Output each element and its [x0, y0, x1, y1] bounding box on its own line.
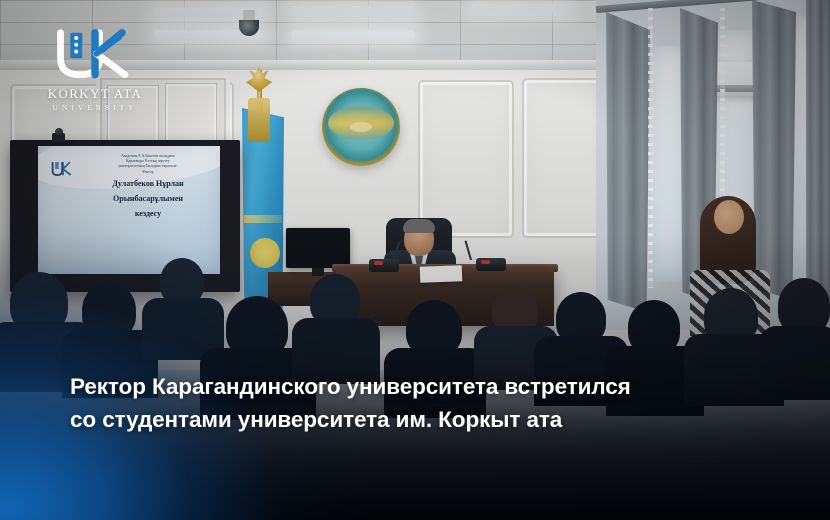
korkyt-ata-university-logo: KORKYT ATA UNIVERSITY: [36, 28, 154, 116]
headline-line-1: Ректор Карагандинского университета встр…: [70, 371, 760, 404]
headline-line-2: со студентами университета им. Коркыт ат…: [70, 404, 760, 437]
logo-name: KORKYT ATA: [36, 86, 154, 102]
uki-monogram-icon: [50, 28, 140, 84]
logo-subtitle: UNIVERSITY: [36, 103, 154, 112]
news-header-image: Академик Е.А.Бөкетов атындағы Қарағанды …: [0, 0, 830, 520]
headline: Ректор Карагандинского университета встр…: [70, 371, 760, 436]
